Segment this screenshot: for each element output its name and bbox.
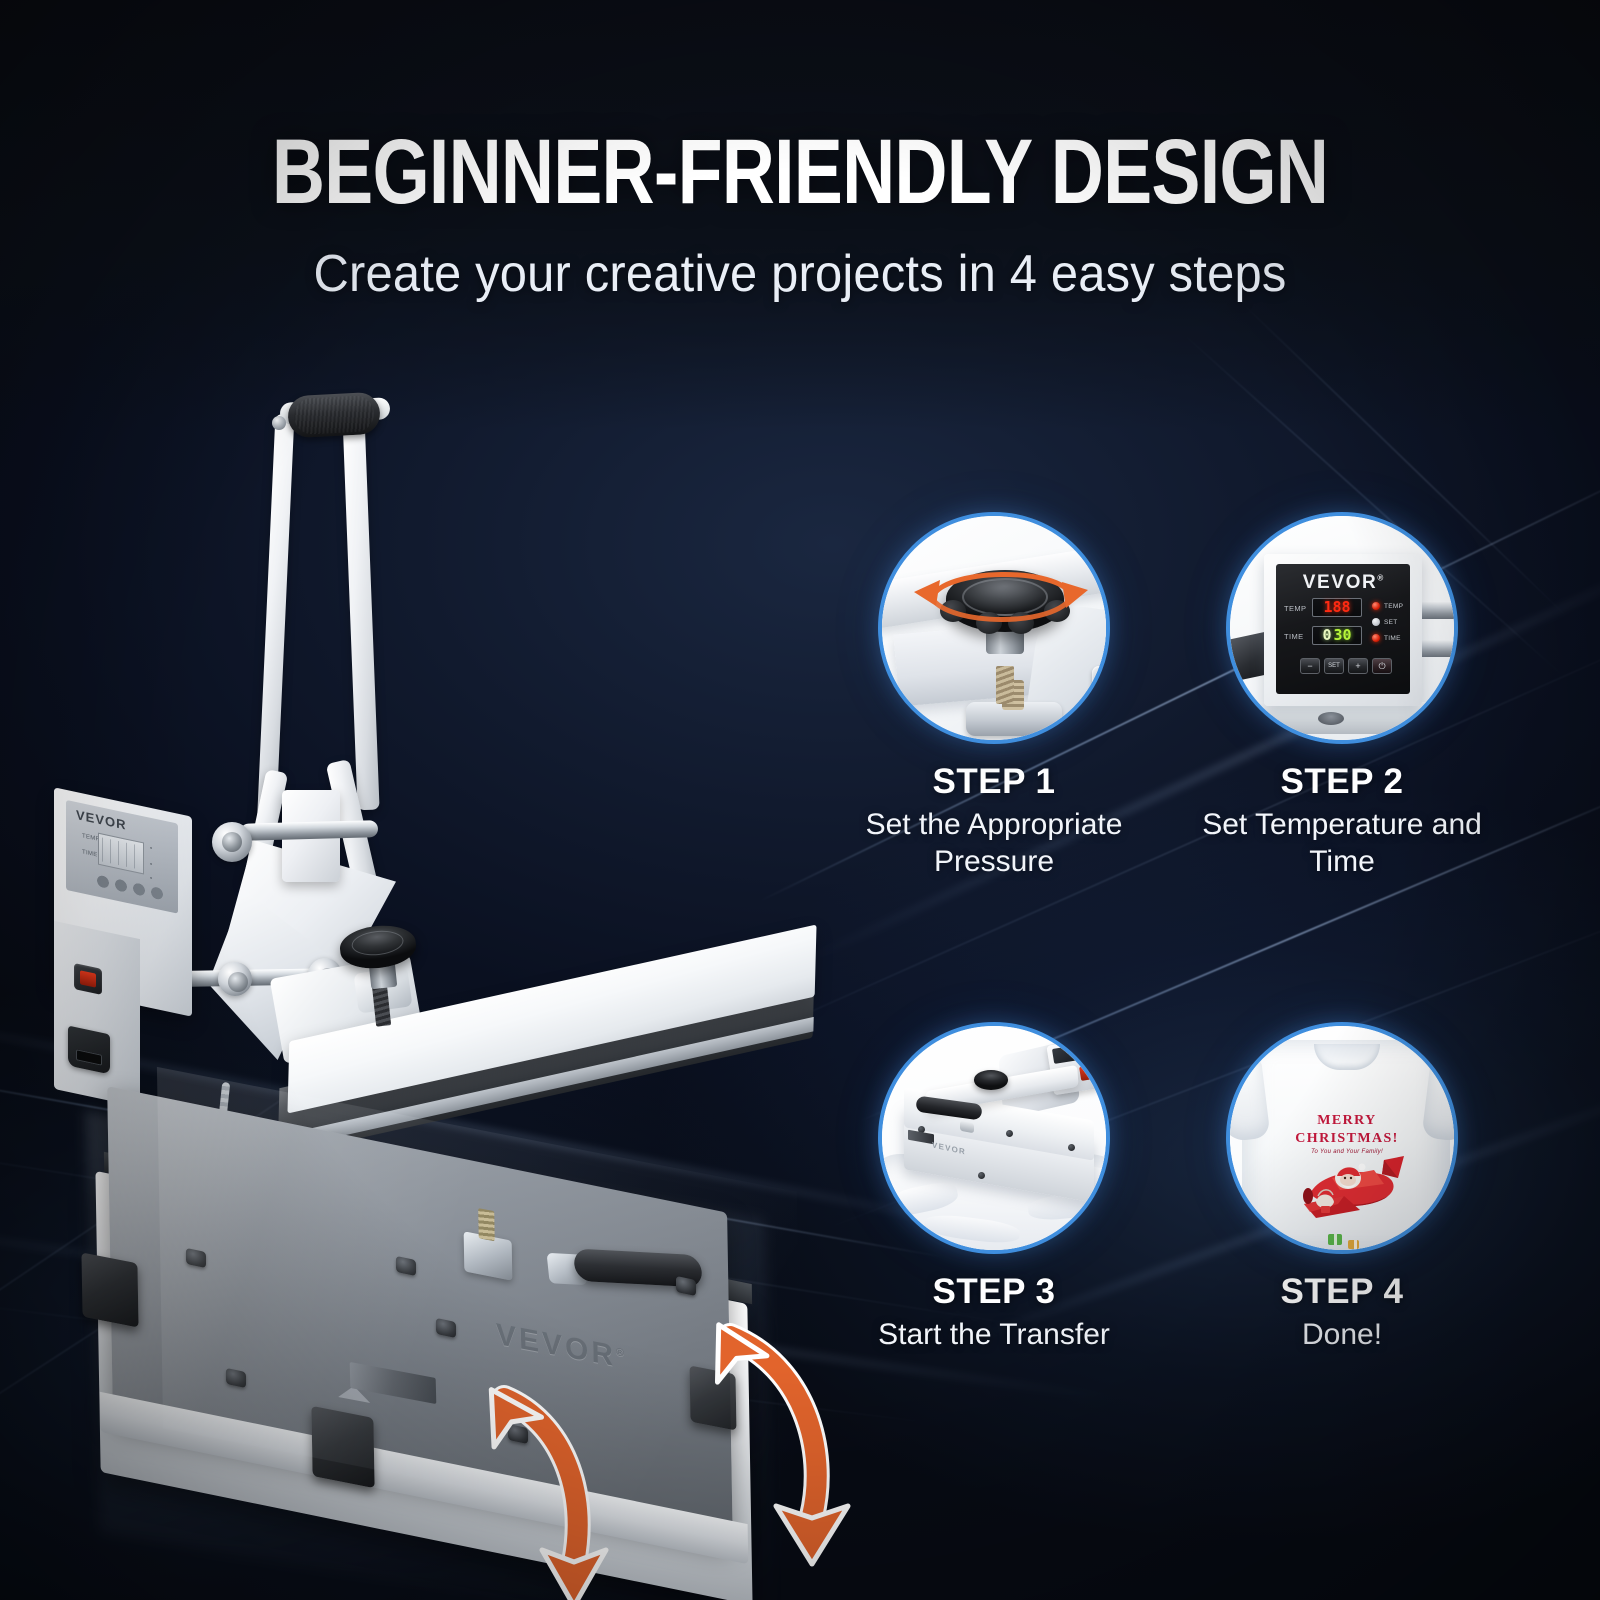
page-headline: BEGINNER-FRIENDLY DESIGN — [160, 126, 1440, 218]
pivot-rod-upper — [240, 820, 378, 841]
step-2-title: STEP 2 — [1172, 762, 1512, 802]
frame-hex-bolt — [1092, 666, 1110, 702]
print-line-2: CHRISTMAS! — [1278, 1130, 1416, 1148]
machine-led-time-label: • — [150, 876, 152, 883]
step-4-desc: Done! — [1172, 1317, 1512, 1354]
time-prefix: 0 — [1322, 628, 1331, 643]
time-label: TIME — [1284, 632, 1304, 641]
machine-buttons[interactable] — [94, 872, 166, 903]
step-3-image: VEVOR — [878, 1022, 1110, 1254]
knob-base-pad — [966, 702, 1062, 736]
platen-brand-mark: ® — [616, 1346, 627, 1360]
led-set-label: SET — [1384, 619, 1398, 626]
print-line-1: MERRY — [1278, 1112, 1416, 1130]
control-panel-brand: VEVOR® — [1276, 572, 1410, 594]
handle-grip — [287, 392, 381, 439]
led-temp-label: TEMP — [1384, 603, 1403, 610]
machine-control-side-panel — [54, 921, 140, 1107]
tshirt-sleeve-right — [1421, 1059, 1458, 1142]
handle-bar-left — [257, 414, 295, 832]
press-pressure-knob[interactable] — [974, 1070, 1008, 1090]
step-3-title: STEP 3 — [824, 1272, 1164, 1312]
rubber-foot-front — [311, 1406, 374, 1488]
machine-led-temp-label: • — [150, 846, 152, 853]
printed-tshirt: MERRY CHRISTMAS! To You and Your Family! — [1242, 1040, 1450, 1254]
step-3-desc: Start the Transfer — [824, 1317, 1164, 1354]
gift-box-yellow — [1348, 1240, 1359, 1249]
tshirt-print-design: MERRY CHRISTMAS! To You and Your Family! — [1278, 1112, 1416, 1155]
handle-bar-right — [342, 414, 379, 811]
control-panel-brand-mark: ® — [1377, 574, 1383, 583]
temp-label: TEMP — [1284, 604, 1306, 613]
hinge-bar — [1260, 702, 1432, 734]
led-time-label: TIME — [1384, 635, 1401, 642]
step-2-desc: Set Temperature and Time — [1172, 807, 1512, 880]
minus-button[interactable]: − — [1300, 658, 1320, 674]
led-temp-indicator — [1372, 602, 1380, 610]
close-lid-arrow-inner — [470, 1380, 660, 1600]
control-panel-face: VEVOR® TEMP 188 TIME 030 TEMP SET T — [1276, 564, 1410, 694]
product-infographic: BEGINNER-FRIENDLY DESIGN Create your cre… — [0, 0, 1600, 1600]
step-2-image: VEVOR® TEMP 188 TIME 030 TEMP SET T — [1226, 512, 1458, 744]
temp-value: 188 — [1323, 600, 1350, 615]
step-1-title: STEP 1 — [824, 762, 1164, 802]
knob-screw-thread — [996, 666, 1014, 704]
temp-display: 188 — [1312, 598, 1362, 617]
led-time-indicator — [1372, 634, 1380, 642]
page-subheadline: Create your creative projects in 4 easy … — [48, 244, 1552, 304]
machine-brand-logo: VEVOR — [76, 807, 127, 833]
santa-airplane-icon — [1288, 1152, 1414, 1224]
control-panel-housing: VEVOR® TEMP 188 TIME 030 TEMP SET T — [1264, 554, 1422, 706]
machine-time-label: TIME — [82, 849, 98, 858]
step-card-1[interactable]: STEP 1 Set the Appropriate Pressure — [824, 512, 1164, 880]
gift-box-green — [1328, 1234, 1342, 1245]
set-button[interactable]: SET — [1324, 658, 1344, 674]
power-button[interactable]: ⏻ — [1372, 658, 1392, 674]
pivot-bolt-2 — [218, 962, 252, 996]
time-display: 030 — [1312, 626, 1362, 645]
step-4-title: STEP 4 — [1172, 1272, 1512, 1312]
led-set-indicator — [1372, 618, 1380, 626]
step-1-desc: Set the Appropriate Pressure — [824, 807, 1164, 880]
step-card-2[interactable]: VEVOR® TEMP 188 TIME 030 TEMP SET T — [1172, 512, 1512, 880]
machine-control-face: VEVOR TEMP TIME • • • — [66, 800, 178, 914]
tshirt-collar — [1314, 1044, 1380, 1070]
control-panel-brand-text: VEVOR — [1303, 572, 1378, 593]
step-4-image: MERRY CHRISTMAS! To You and Your Family! — [1226, 1022, 1458, 1254]
time-value: 30 — [1333, 628, 1351, 643]
connector-lower — [1416, 640, 1458, 657]
handle-screw — [272, 416, 286, 430]
machine-display — [98, 833, 144, 875]
pivot-bolt-1 — [212, 822, 252, 862]
tshirt-sleeve-left — [1226, 1059, 1271, 1142]
heat-press-machine-photo: VEVOR TEMP TIME • • • — [40, 370, 860, 1470]
step-1-image — [878, 512, 1110, 744]
plus-button[interactable]: + — [1348, 658, 1368, 674]
connector-upper — [1416, 602, 1458, 619]
rubber-foot-left — [81, 1252, 138, 1327]
step-card-4[interactable]: MERRY CHRISTMAS! To You and Your Family! — [1172, 1022, 1512, 1354]
step-card-3[interactable]: VEVOR STEP 3 Start the Transfer — [824, 1022, 1164, 1354]
machine-led-set-label: • — [150, 862, 152, 869]
rotate-arrow-icon — [908, 554, 1094, 634]
